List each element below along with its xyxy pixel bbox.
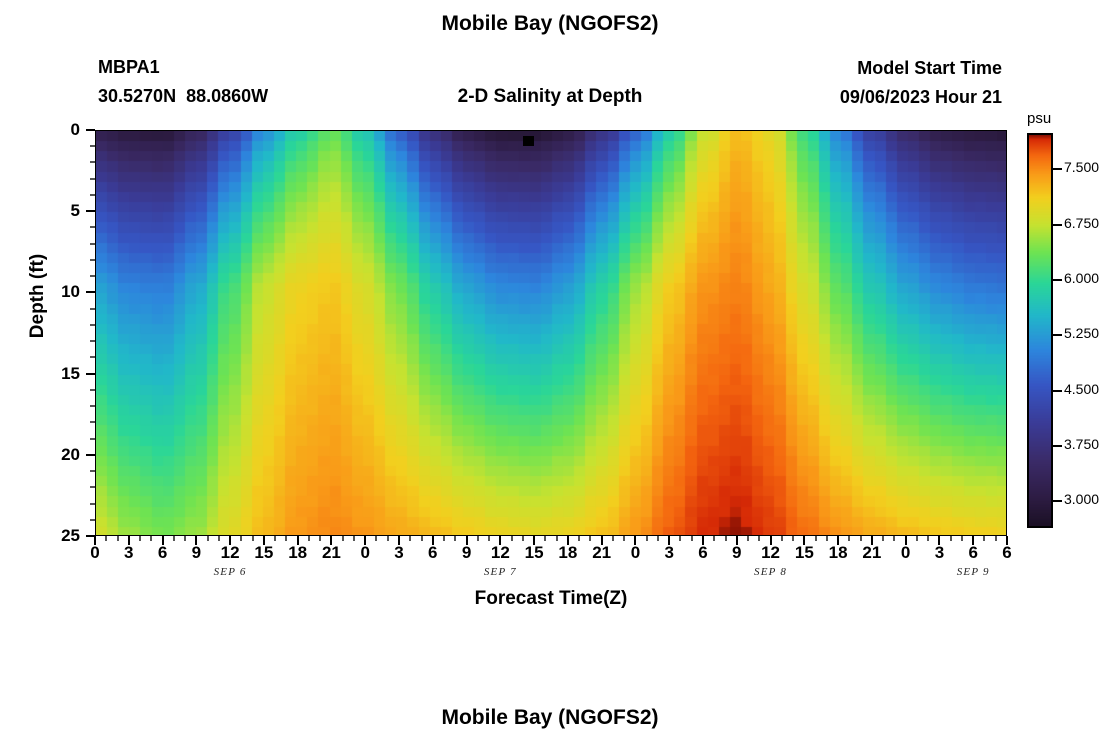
x-axis-minor-tick: [860, 536, 862, 541]
x-axis-minor-tick: [308, 536, 310, 541]
y-axis-minor-tick: [90, 259, 95, 261]
colorbar-tick: [1053, 445, 1062, 447]
x-axis-minor-tick: [893, 536, 895, 541]
x-axis-minor-tick: [522, 536, 524, 541]
x-axis-minor-tick: [274, 536, 276, 541]
x-axis-minor-tick: [139, 536, 141, 541]
y-axis-minor-tick: [90, 470, 95, 472]
x-axis-minor-tick: [252, 536, 254, 541]
y-axis-tick: [86, 129, 95, 131]
x-axis-day-label: SEP 8: [731, 566, 811, 578]
colorbar-gradient: [1029, 135, 1051, 526]
x-axis-minor-tick: [612, 536, 614, 541]
x-axis-minor-tick: [781, 536, 783, 541]
x-axis-minor-tick: [747, 536, 749, 541]
y-axis-minor-tick: [90, 226, 95, 228]
x-axis-minor-tick: [421, 536, 423, 541]
x-axis-minor-tick: [927, 536, 929, 541]
model-start-time-label: Model Start Time: [0, 58, 1100, 79]
y-axis-minor-tick: [90, 308, 95, 310]
colorbar-tick-label: 3.000: [1064, 491, 1099, 507]
colorbar-tick: [1053, 334, 1062, 336]
y-axis-minor-tick: [90, 519, 95, 521]
y-axis-minor-tick: [90, 194, 95, 196]
colorbar-tick-label: 6.000: [1064, 270, 1099, 286]
cursor-marker: [523, 136, 534, 146]
y-axis-tick: [86, 210, 95, 212]
bottom-title: Mobile Bay (NGOFS2): [0, 706, 1100, 730]
x-axis-minor-tick: [105, 536, 107, 541]
x-axis-minor-tick: [240, 536, 242, 541]
x-axis-minor-tick: [544, 536, 546, 541]
x-axis-minor-tick: [443, 536, 445, 541]
y-axis-minor-tick: [90, 340, 95, 342]
x-axis-minor-tick: [916, 536, 918, 541]
x-axis-minor-tick: [995, 536, 997, 541]
x-axis-minor-tick: [342, 536, 344, 541]
x-axis-minor-tick: [117, 536, 119, 541]
x-axis-minor-tick: [150, 536, 152, 541]
y-axis-minor-tick: [90, 161, 95, 163]
x-axis-minor-tick: [961, 536, 963, 541]
x-axis-minor-tick: [713, 536, 715, 541]
x-axis-minor-tick: [758, 536, 760, 541]
x-axis-day-label: SEP 6: [190, 566, 270, 578]
y-axis-minor-tick: [90, 438, 95, 440]
y-axis-minor-tick: [90, 503, 95, 505]
y-axis-tick: [86, 373, 95, 375]
x-axis-minor-tick: [826, 536, 828, 541]
y-axis-minor-tick: [90, 405, 95, 407]
x-axis-minor-tick: [319, 536, 321, 541]
x-axis-minor-tick: [950, 536, 952, 541]
y-axis-minor-tick: [90, 243, 95, 245]
y-axis-minor-tick: [90, 324, 95, 326]
x-axis-minor-tick: [387, 536, 389, 541]
x-axis-minor-tick: [409, 536, 411, 541]
colorbar-tick: [1053, 168, 1062, 170]
y-axis-tick: [86, 291, 95, 293]
y-axis-minor-tick: [90, 486, 95, 488]
heatmap-plot-area: [95, 130, 1007, 536]
x-axis-minor-tick: [488, 536, 490, 541]
colorbar-unit-label: psu: [1027, 110, 1051, 127]
x-axis-minor-tick: [285, 536, 287, 541]
colorbar-tick: [1053, 500, 1062, 502]
salinity-heatmap: [96, 131, 1007, 536]
x-axis-minor-tick: [623, 536, 625, 541]
x-axis-minor-tick: [848, 536, 850, 541]
x-axis-day-label: SEP 7: [460, 566, 540, 578]
colorbar-tick-label: 5.250: [1064, 325, 1099, 341]
x-axis-minor-tick: [792, 536, 794, 541]
x-axis-minor-tick: [511, 536, 513, 541]
x-axis-minor-tick: [679, 536, 681, 541]
y-axis-title: Depth (ft): [27, 196, 49, 396]
x-axis-minor-tick: [882, 536, 884, 541]
colorbar-tick: [1053, 390, 1062, 392]
x-axis-minor-tick: [578, 536, 580, 541]
colorbar-tick: [1053, 279, 1062, 281]
y-axis-tick: [86, 454, 95, 456]
x-axis-minor-tick: [589, 536, 591, 541]
x-axis-tick-label: 6: [987, 543, 1027, 563]
x-axis-title: Forecast Time(Z): [95, 588, 1007, 610]
x-axis-minor-tick: [454, 536, 456, 541]
y-axis-tick-label: 25: [40, 526, 80, 546]
x-axis-minor-tick: [556, 536, 558, 541]
x-axis-minor-tick: [725, 536, 727, 541]
colorbar-tick-label: 3.750: [1064, 436, 1099, 452]
y-axis-minor-tick: [90, 389, 95, 391]
y-axis-minor-tick: [90, 356, 95, 358]
x-axis-minor-tick: [353, 536, 355, 541]
x-axis-minor-tick: [477, 536, 479, 541]
colorbar-tick: [1053, 224, 1062, 226]
x-axis-day-label: SEP 9: [933, 566, 1013, 578]
x-axis-minor-tick: [173, 536, 175, 541]
y-axis-minor-tick: [90, 178, 95, 180]
x-axis-minor-tick: [691, 536, 693, 541]
y-axis-tick: [86, 535, 95, 537]
x-axis-minor-tick: [184, 536, 186, 541]
x-axis-minor-tick: [657, 536, 659, 541]
x-axis-minor-tick: [375, 536, 377, 541]
y-axis-tick-label: 0: [40, 120, 80, 140]
y-axis-minor-tick: [90, 145, 95, 147]
colorbar-tick-label: 6.750: [1064, 215, 1099, 231]
model-start-time-value: 09/06/2023 Hour 21: [0, 87, 1100, 108]
colorbar: [1027, 133, 1053, 528]
page-title: Mobile Bay (NGOFS2): [0, 12, 1100, 36]
y-axis-minor-tick: [90, 421, 95, 423]
colorbar-tick-label: 4.500: [1064, 381, 1099, 397]
figure-root: Mobile Bay (NGOFS2) MBPA1 30.5270N 88.08…: [0, 0, 1100, 750]
x-axis-minor-tick: [218, 536, 220, 541]
y-axis-minor-tick: [90, 275, 95, 277]
x-axis-minor-tick: [646, 536, 648, 541]
x-axis-minor-tick: [983, 536, 985, 541]
x-axis-minor-tick: [207, 536, 209, 541]
x-axis-minor-tick: [815, 536, 817, 541]
colorbar-tick-label: 7.500: [1064, 159, 1099, 175]
y-axis-tick-label: 20: [40, 445, 80, 465]
